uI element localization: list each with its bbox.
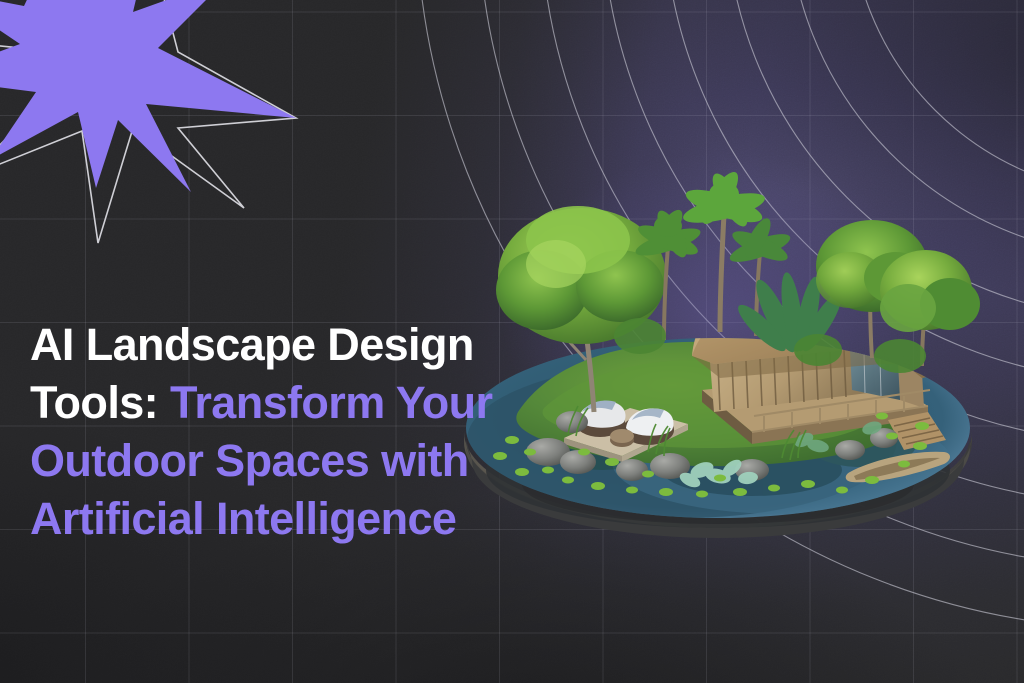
headline-part-white: AI Landscape: [30, 319, 315, 370]
page-headline: AI Landscape Design Tools: Transform You…: [30, 316, 570, 548]
hero-banner: AI Landscape Design Tools: Transform You…: [0, 0, 1024, 683]
headline-part-white-tools: Tools:: [30, 377, 158, 428]
headline-part-white-cont: Design: [327, 319, 473, 370]
